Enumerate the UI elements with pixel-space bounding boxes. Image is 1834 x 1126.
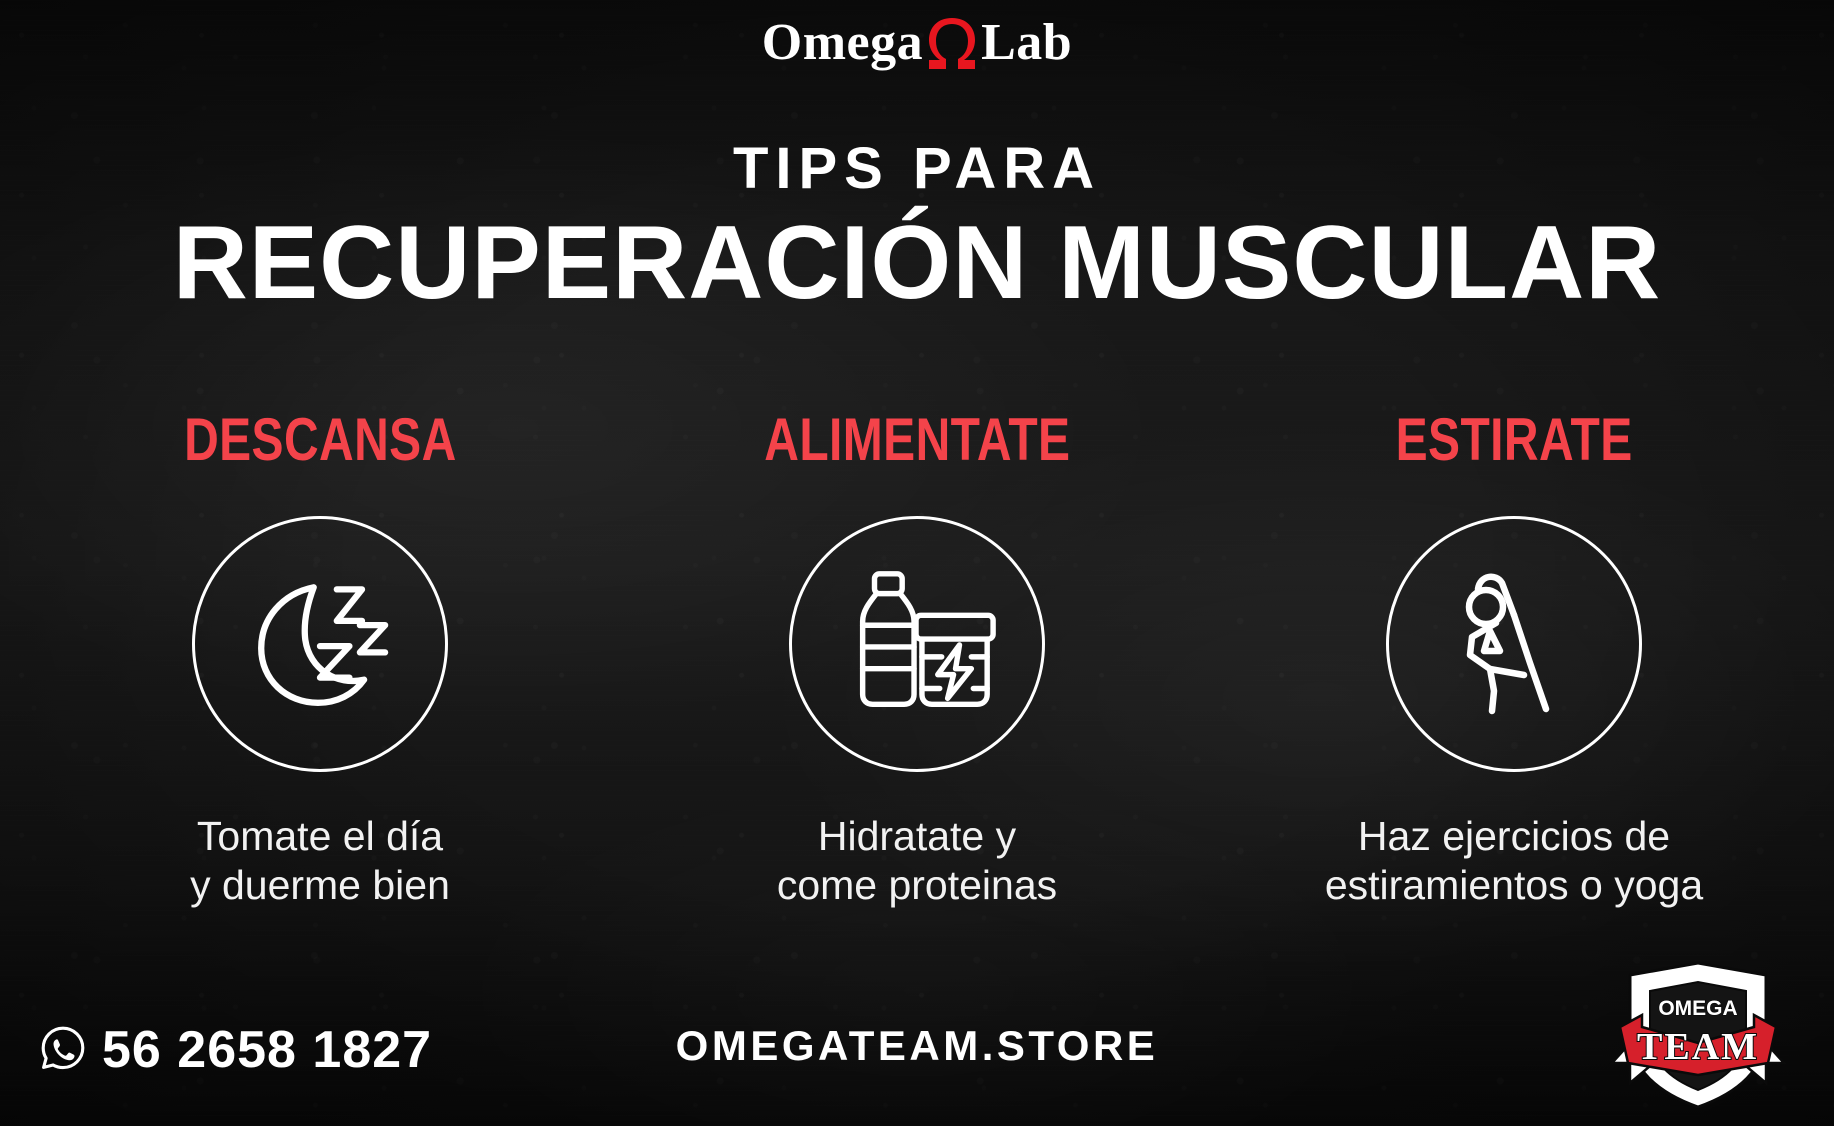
tips-row: DESCANSA Tomate el día y duerme bien [60,410,1774,910]
tip-icon-circle [789,516,1045,772]
tip-title: ESTIRATE [1396,410,1633,470]
title-line-2: RECUPERACIÓN MUSCULAR [0,208,1834,318]
tip-title: DESCANSA [184,410,457,470]
tip-card-alimentate: ALIMENTATE [657,410,1177,910]
website-url[interactable]: OMEGATEAM.STORE [0,1022,1834,1070]
tip-card-estirate: ESTIRATE [1254,410,1774,910]
badge-top-text: OMEGA [1658,997,1737,1020]
omega-symbol-icon [921,12,983,74]
tip-icon-circle [1386,516,1642,772]
tip-title: ALIMENTATE [764,410,1070,470]
tip-caption: Tomate el día y duerme bien [190,812,450,910]
brand-logo: Omega Lab [0,12,1834,74]
tip-card-descansa: DESCANSA Tomate el día y duerme bien [60,410,580,910]
tip-caption: Haz ejercicios de estiramientos o yoga [1325,812,1703,910]
poster-canvas: Omega Lab TIPS PARA RECUPERACIÓN MUSCULA… [0,0,1834,1126]
brand-word-lab: Lab [981,17,1072,69]
omega-team-shield-badge: OMEGA TEAM [1598,951,1798,1116]
moon-sleep-icon [236,560,404,728]
tip-caption: Hidratate y come proteinas [777,812,1057,910]
bottle-protein-jar-icon [833,560,1001,728]
tip-icon-circle [192,516,448,772]
title-block: TIPS PARA RECUPERACIÓN MUSCULAR [0,140,1834,318]
footer-bar: 56 2658 1827 OMEGATEAM.STORE OMEGA TEAM [0,936,1834,1126]
title-line-1: TIPS PARA [0,140,1834,198]
stretching-person-icon [1434,559,1594,729]
badge-banner-text: TEAM [1637,1026,1759,1068]
brand-word-omega: Omega [762,17,923,69]
